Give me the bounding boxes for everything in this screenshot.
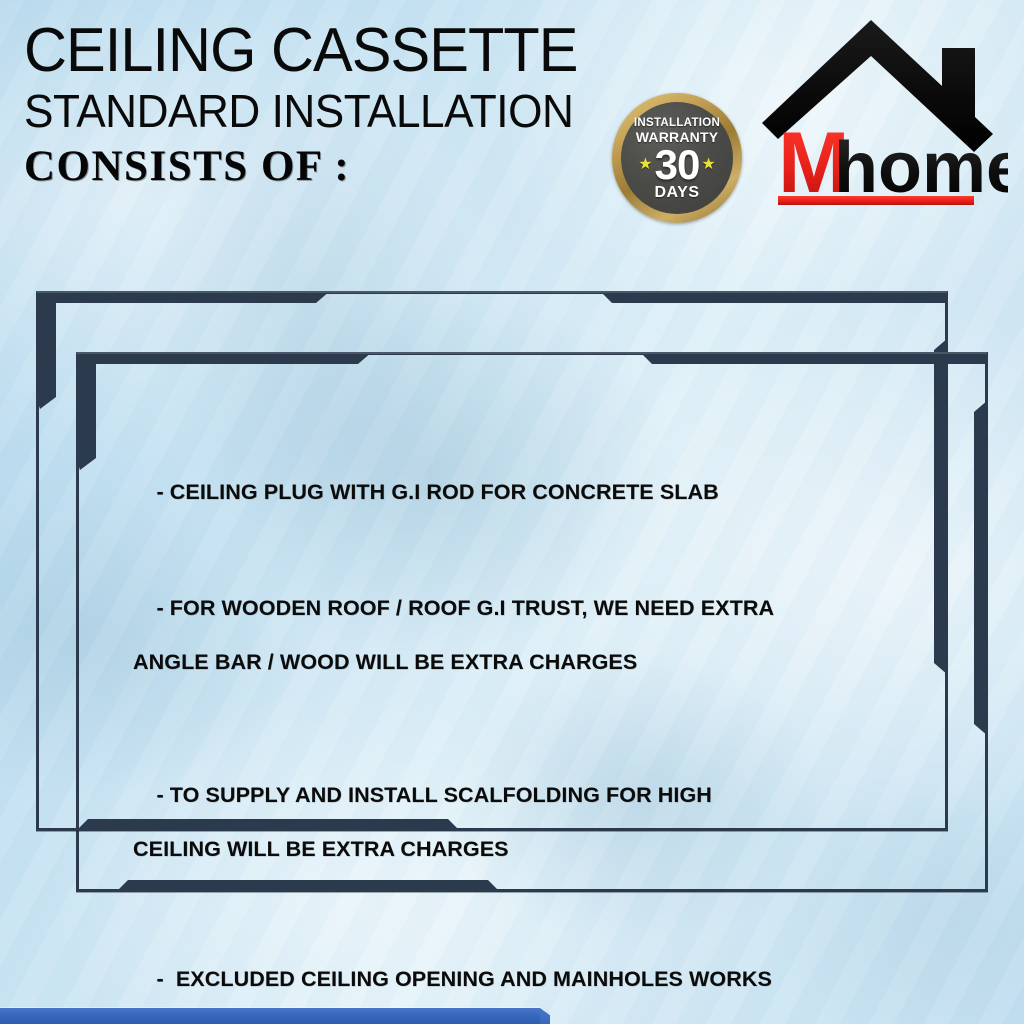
star-left-icon: ★	[638, 157, 652, 173]
bullet-text-line2: ANGLE BAR / WOOD WILL BE EXTRA CHARGES	[120, 649, 910, 676]
title-block: CEILING CASSETTE STANDARD INSTALLATION C…	[24, 20, 601, 192]
bullet-text-line1: - FOR WOODEN ROOF / ROOF G.I TRUST, WE N…	[156, 596, 774, 620]
badge-face: INSTALLATION WARRANTY ★ 30 ★ DAYS	[621, 102, 733, 214]
badge-middle-row: ★ 30 ★	[638, 144, 715, 186]
warranty-badge: INSTALLATION WARRANTY ★ 30 ★ DAYS	[612, 93, 742, 223]
bullet-text-line2: CEILING WILL BE EXTRA CHARGES	[120, 836, 910, 863]
poster-header: CEILING CASSETTE STANDARD INSTALLATION C…	[0, 0, 1024, 230]
page-subtitle: STANDARD INSTALLATION	[24, 82, 578, 140]
badge-days-label: DAYS	[655, 184, 700, 201]
bullet-list: - CEILING PLUG WITH G.I ROD FOR CONCRETE…	[120, 452, 910, 1020]
bullet-text-line1: - CEILING PLUG WITH G.I ROD FOR CONCRETE…	[156, 480, 718, 504]
list-item: - FOR WOODEN ROOF / ROOF G.I TRUST, WE N…	[120, 568, 910, 730]
list-item: - CEILING PLUG WITH G.I ROD FOR CONCRETE…	[120, 452, 910, 533]
logo-underline	[778, 196, 974, 205]
bottom-accent-bar	[0, 1008, 540, 1024]
brand-logo: M home	[756, 6, 1008, 211]
list-item: - TO SUPPLY AND INSTALL SCALFOLDING FOR …	[120, 755, 910, 917]
badge-days-number: 30	[655, 144, 700, 186]
bullet-text-line1: - EXCLUDED CEILING OPENING AND MAINHOLES…	[156, 967, 771, 991]
badge-installation-label: INSTALLATION	[634, 117, 720, 129]
star-right-icon: ★	[701, 157, 715, 173]
bullet-text-line1: - TO SUPPLY AND INSTALL SCALFOLDING FOR …	[156, 783, 711, 807]
page-title: CEILING CASSETTE	[24, 20, 578, 82]
consists-of-label: CONSISTS OF :	[24, 142, 601, 192]
poster-canvas: CEILING CASSETTE STANDARD INSTALLATION C…	[0, 0, 1024, 1024]
